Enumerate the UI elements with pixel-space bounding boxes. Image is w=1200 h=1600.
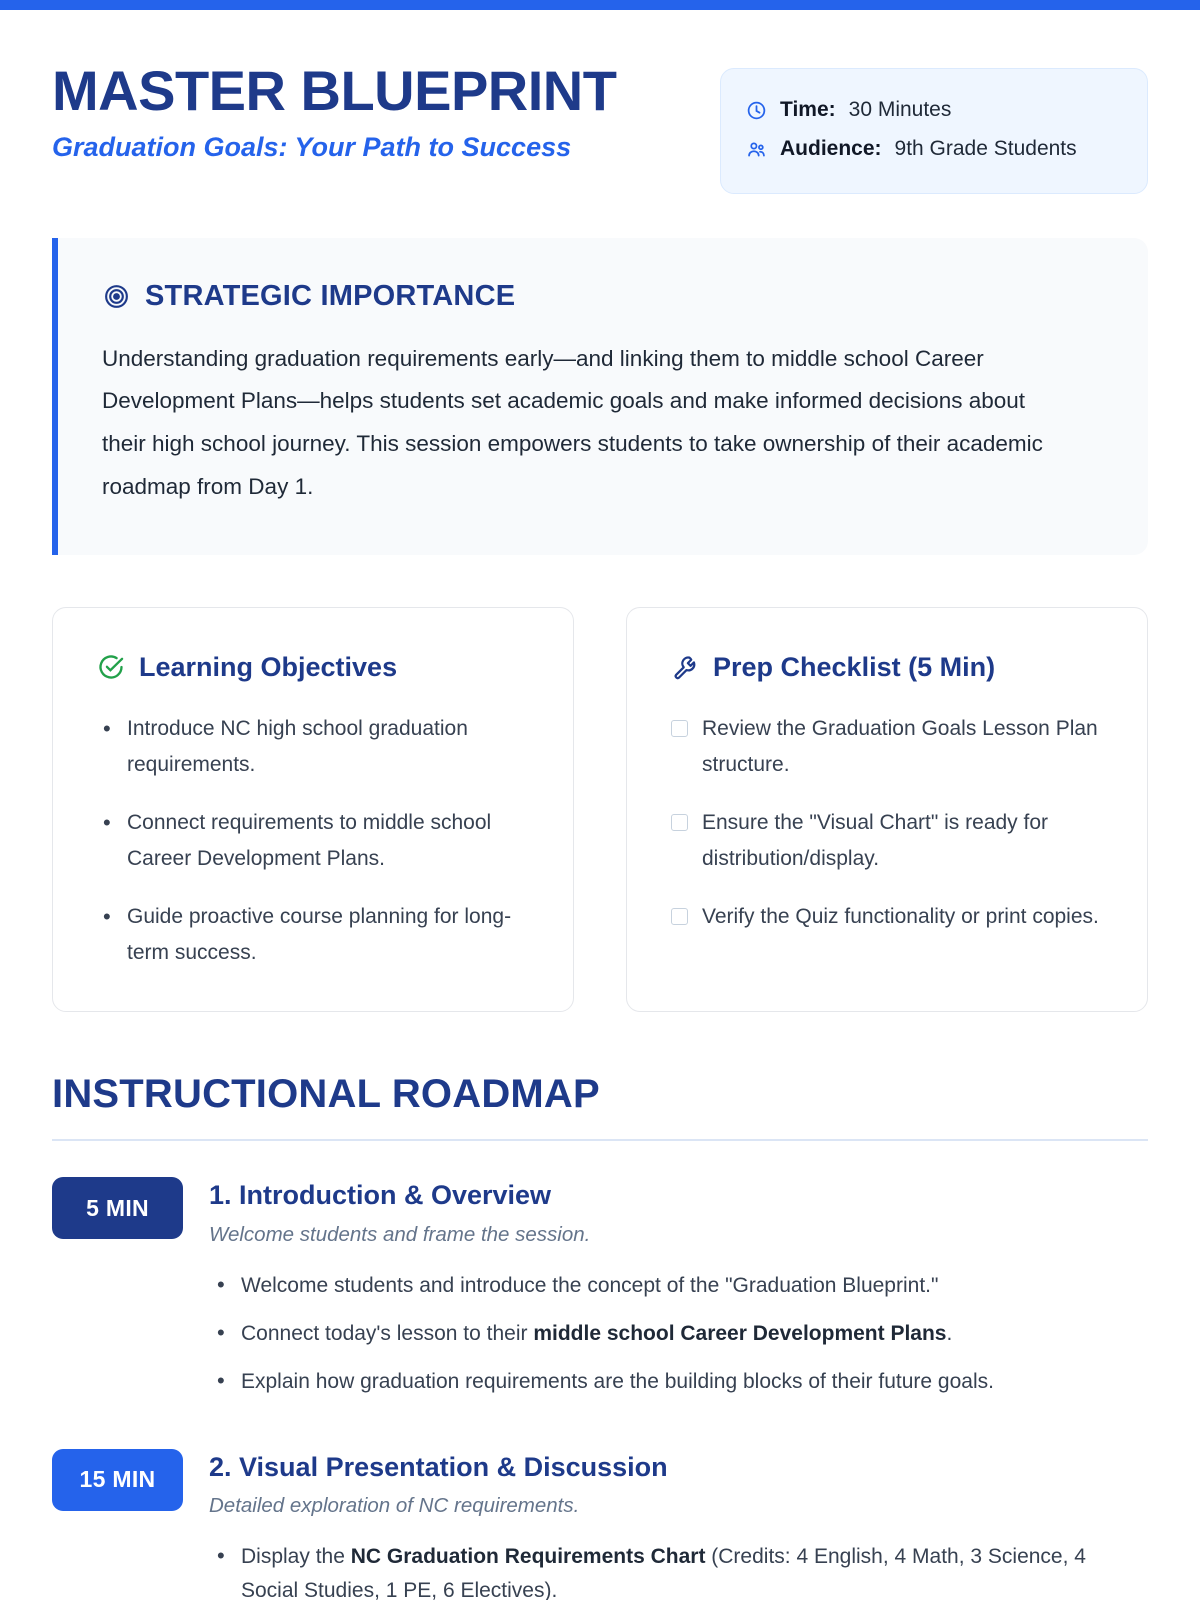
point-emphasis: middle school Career Development Plans [533,1322,946,1345]
step-title: 2. Visual Presentation & Discussion [209,1451,1148,1483]
point-text: Connect today's lesson to their [241,1322,533,1345]
step-subtitle: Welcome students and frame the session. [209,1223,1148,1247]
page-title: MASTER BLUEPRINT [52,62,616,121]
checklist-item-label: Ensure the "Visual Chart" is ready for d… [702,805,1107,877]
list-item[interactable]: Verify the Quiz functionality or print c… [671,899,1107,935]
clock-icon [745,99,767,121]
point-text: Explain how graduation requirements are … [241,1370,994,1393]
document-page: MASTER BLUEPRINT Graduation Goals: Your … [0,0,1200,1600]
strategic-importance-heading: STRATEGIC IMPORTANCE [145,280,515,313]
roadmap-step-2: 15 MIN 2. Visual Presentation & Discussi… [52,1449,1148,1600]
checkbox-icon[interactable] [671,814,688,831]
list-item: Guide proactive course planning for long… [97,899,533,971]
target-icon [102,282,130,310]
meta-value-audience: 9th Grade Students [895,130,1077,169]
learning-objectives-card: Learning Objectives Introduce NC high sc… [52,607,574,1013]
roadmap-heading: INSTRUCTIONAL ROADMAP [52,1072,1148,1117]
step-points-list: Display the NC Graduation Requirements C… [209,1540,1148,1600]
list-item: Introduce NC high school graduation requ… [97,711,533,783]
checkbox-icon[interactable] [671,908,688,925]
checklist-item-label: Verify the Quiz functionality or print c… [702,899,1099,935]
list-item: Explain how graduation requirements are … [209,1365,1148,1399]
list-item[interactable]: Review the Graduation Goals Lesson Plan … [671,711,1107,783]
page-subtitle: Graduation Goals: Your Path to Success [52,132,616,163]
cards-row: Learning Objectives Introduce NC high sc… [52,607,1148,1013]
checkbox-icon[interactable] [671,720,688,737]
point-text: Display the [241,1545,351,1568]
learning-objectives-heading: Learning Objectives [139,652,397,683]
check-circle-icon [97,653,125,681]
point-text-tail: . [946,1322,952,1345]
point-emphasis: NC Graduation Requirements Chart [351,1545,706,1568]
people-icon [745,138,767,160]
list-item[interactable]: Ensure the "Visual Chart" is ready for d… [671,805,1107,877]
instructional-roadmap-section: INSTRUCTIONAL ROADMAP 5 MIN 1. Introduct… [52,1072,1148,1600]
top-accent-bar [0,0,1200,10]
roadmap-step-1: 5 MIN 1. Introduction & Overview Welcome… [52,1177,1148,1412]
meta-label-audience: Audience: [780,130,882,169]
meta-label-time: Time: [780,91,836,130]
checklist-item-label: Review the Graduation Goals Lesson Plan … [702,711,1107,783]
step-title: 1. Introduction & Overview [209,1179,1148,1211]
step-body: 2. Visual Presentation & Discussion Deta… [209,1449,1148,1600]
document-header: MASTER BLUEPRINT Graduation Goals: Your … [52,10,1148,194]
strategic-importance-callout: STRATEGIC IMPORTANCE Understanding gradu… [52,238,1148,555]
step-duration-badge: 15 MIN [52,1449,183,1511]
step-subtitle: Detailed exploration of NC requirements. [209,1494,1148,1518]
meta-row-audience: Audience: 9th Grade Students [745,130,1121,169]
list-item: Connect today's lesson to their middle s… [209,1317,1148,1351]
meta-value-time: 30 Minutes [849,91,952,130]
strategic-importance-title-row: STRATEGIC IMPORTANCE [102,280,1104,313]
roadmap-divider [52,1139,1148,1141]
step-body: 1. Introduction & Overview Welcome stude… [209,1177,1148,1412]
list-item: Welcome students and introduce the conce… [209,1269,1148,1303]
learning-objectives-title-row: Learning Objectives [97,652,533,683]
prep-checklist-card: Prep Checklist (5 Min) Review the Gradua… [626,607,1148,1013]
learning-objectives-list: Introduce NC high school graduation requ… [97,711,533,972]
session-meta-box: Time: 30 Minutes Audience: 9th Grade Stu… [720,68,1148,194]
list-item: Display the NC Graduation Requirements C… [209,1540,1148,1600]
wrench-icon [671,653,699,681]
step-points-list: Welcome students and introduce the conce… [209,1269,1148,1399]
step-duration-badge: 5 MIN [52,1177,183,1239]
prep-checklist-list: Review the Graduation Goals Lesson Plan … [671,711,1107,936]
title-block: MASTER BLUEPRINT Graduation Goals: Your … [52,56,616,163]
list-item: Connect requirements to middle school Ca… [97,805,533,877]
meta-row-time: Time: 30 Minutes [745,91,1121,130]
prep-checklist-title-row: Prep Checklist (5 Min) [671,652,1107,683]
page-content: MASTER BLUEPRINT Graduation Goals: Your … [0,10,1200,1600]
strategic-importance-body: Understanding graduation requirements ea… [102,338,1052,509]
prep-checklist-heading: Prep Checklist (5 Min) [713,652,995,683]
point-text: Welcome students and introduce the conce… [241,1274,938,1297]
